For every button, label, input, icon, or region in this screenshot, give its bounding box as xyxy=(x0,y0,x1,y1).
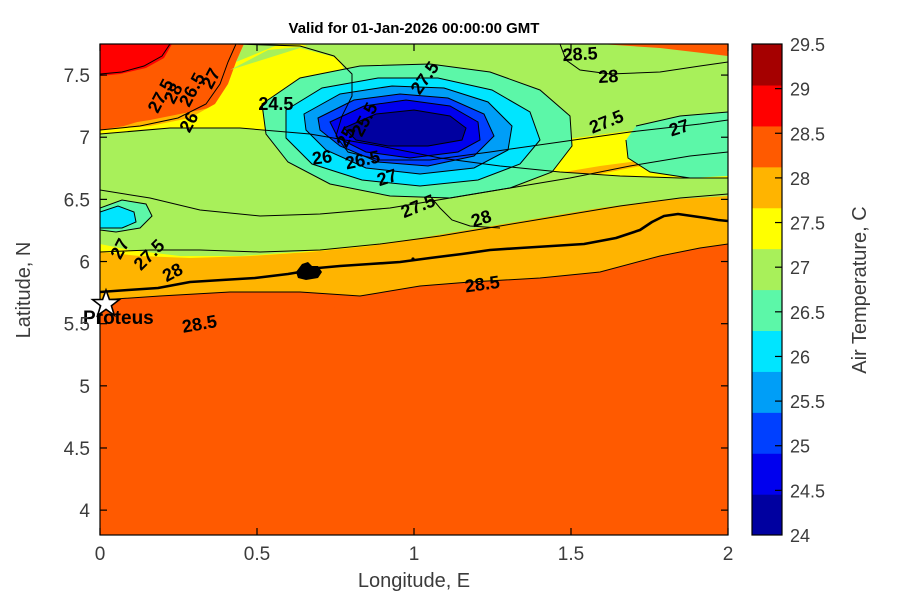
x-tick-label: 1 xyxy=(409,544,420,565)
y-tick-label: 6 xyxy=(79,253,90,274)
colorbar-band xyxy=(752,371,782,413)
colorbar-tick-label: 28 xyxy=(790,169,810,189)
colorbar-band xyxy=(752,330,782,372)
colorbar-tick-label: 27 xyxy=(790,258,810,278)
contour-label: 24.5 xyxy=(258,94,293,114)
islet xyxy=(411,257,414,260)
y-tick-label: 5.5 xyxy=(64,315,90,336)
contour-label: 28.5 xyxy=(562,43,598,65)
colorbar-tick-label: 29.5 xyxy=(790,35,825,55)
colorbar-tick-label: 24 xyxy=(790,526,810,546)
y-axis-label: Latitude, N xyxy=(13,242,35,339)
colorbar-band xyxy=(752,249,782,291)
y-tick-label: 6.5 xyxy=(64,190,90,211)
y-tick-label: 4 xyxy=(79,501,90,522)
y-tick-label: 4.5 xyxy=(64,439,90,460)
colorbar-tick-label: 25 xyxy=(790,437,810,457)
colorbar-tick-label: 27.5 xyxy=(790,214,825,234)
x-tick-label: 2 xyxy=(723,544,734,565)
colorbar-tick-label: 28.5 xyxy=(790,124,825,144)
contour-label: 28 xyxy=(598,66,619,87)
colorbar-band xyxy=(752,412,782,454)
contour-label: 26 xyxy=(311,146,334,169)
colorbar-tick-label: 25.5 xyxy=(790,392,825,412)
x-tick-label: 0 xyxy=(95,544,106,565)
page-title: Valid for 01-Jan-2026 00:00:00 GMT xyxy=(289,20,540,37)
y-tick-label: 7 xyxy=(79,128,90,149)
x-tick-label: 0.5 xyxy=(244,544,270,565)
colorbar-band xyxy=(752,44,782,86)
contour-plot-figure: Valid for 01-Jan-2026 00:00:00 GMT xyxy=(0,0,900,600)
colorbar-band xyxy=(752,208,782,250)
colorbar-tick-label: 24.5 xyxy=(790,481,825,501)
station-label: Proteus xyxy=(83,308,154,329)
colorbar-band xyxy=(752,85,782,127)
colorbar-label: Air Temperature, C xyxy=(849,206,871,373)
x-axis-label: Longitude, E xyxy=(358,570,470,592)
colorbar-band xyxy=(752,494,782,536)
y-tick-label: 5 xyxy=(79,377,90,398)
colorbar-band xyxy=(752,290,782,332)
colorbar-band xyxy=(752,126,782,168)
y-tick-label: 7.5 xyxy=(64,66,90,87)
colorbar-tick-label: 26 xyxy=(790,347,810,367)
colorbar-tick-label: 26.5 xyxy=(790,303,825,323)
colorbar-tick-label: 29 xyxy=(790,80,810,100)
colorbar-band xyxy=(752,453,782,495)
x-tick-label: 1.5 xyxy=(558,544,584,565)
colorbar-band xyxy=(752,167,782,209)
